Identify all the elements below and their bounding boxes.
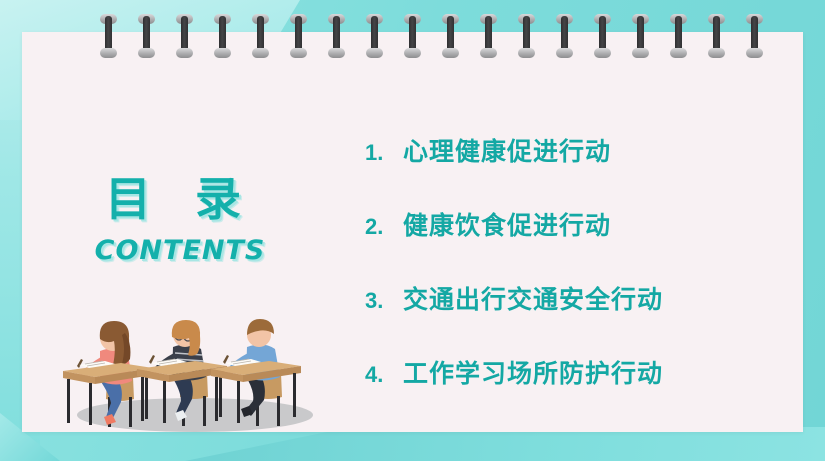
contents-item-number: 1. xyxy=(365,140,403,166)
contents-list-item[interactable]: 1.心理健康促进行动 xyxy=(365,132,785,206)
contents-item-number: 4. xyxy=(365,362,403,388)
contents-item-label: 健康饮食促进行动 xyxy=(403,206,611,242)
contents-list-item[interactable]: 2.健康饮食促进行动 xyxy=(365,206,785,280)
students-illustration xyxy=(55,293,325,433)
contents-list-item[interactable]: 3.交通出行交通安全行动 xyxy=(365,280,785,354)
contents-list: 1.心理健康促进行动2.健康饮食促进行动3.交通出行交通安全行动4.工作学习场所… xyxy=(365,132,785,428)
contents-item-number: 3. xyxy=(365,288,403,314)
contents-item-label: 工作学习场所防护行动 xyxy=(403,354,663,390)
contents-item-number: 2. xyxy=(365,214,403,240)
contents-item-label: 交通出行交通安全行动 xyxy=(403,280,663,316)
contents-list-item[interactable]: 4.工作学习场所防护行动 xyxy=(365,354,785,428)
contents-heading-block: 目 录 CONTENTS xyxy=(40,175,320,266)
page-title-cn: 目 录 xyxy=(40,175,320,223)
page-title-en: CONTENTS xyxy=(40,235,320,266)
contents-item-label: 心理健康促进行动 xyxy=(403,132,611,168)
contents-slide: 目 录 CONTENTS xyxy=(0,0,825,461)
